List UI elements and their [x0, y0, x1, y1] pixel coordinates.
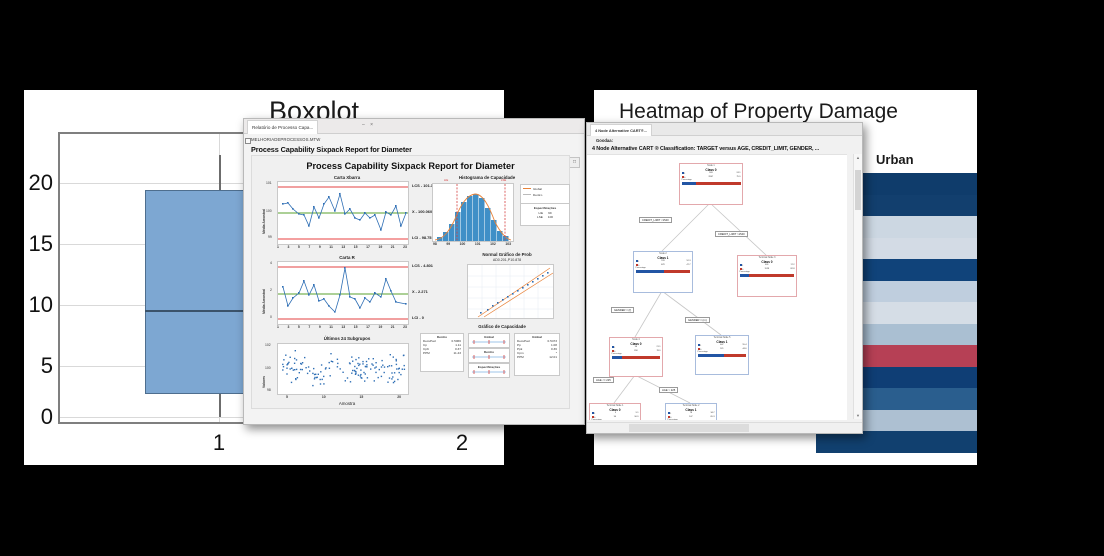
- boxplot-ytick-20: 20: [29, 170, 53, 196]
- histogram-lsl-mark: LIE: [444, 178, 448, 182]
- presentation-canvas: Boxplot 20 15 10 5 0 1 2 He: [0, 0, 1104, 556]
- xbar-plot-area: [277, 181, 409, 245]
- cart-node[interactable]: Terminal Node 3Class 0 140117.2 0192882.…: [737, 255, 797, 297]
- cart-split-label: AGE <= 225: [593, 377, 614, 383]
- cart-split-label: GENDER = {f}: [611, 307, 634, 313]
- subgroups-ytick-102: 102: [265, 343, 271, 347]
- subgroups-plot-area: [277, 343, 409, 395]
- sixpack-chart-title: Process Capability Sixpack Report for Di…: [252, 161, 569, 171]
- probplot-title: Normal Gráfico de Prob: [452, 252, 562, 257]
- cart-vertical-scrollbar[interactable]: ▲▼: [853, 154, 862, 419]
- histogram-spec-box: Especificações LIE99 LSE100: [520, 203, 570, 226]
- probplot-subtitle: AD0.201,P10.878: [452, 258, 562, 262]
- boxplot-ytick-10: 10: [29, 292, 53, 318]
- xbar-series: [278, 182, 408, 244]
- heatmap-cell: [816, 431, 989, 453]
- boxplot-ytick-15: 15: [29, 231, 53, 257]
- sixpack-canvas: Process Capability Sixpack Report for Di…: [251, 155, 570, 409]
- boxplot-upper-whisker: [219, 155, 221, 190]
- cart-node[interactable]: Terminal Node 5Class 1 164755.4 052144.6…: [695, 335, 749, 375]
- subgroups-ytick-98: 98: [267, 388, 271, 392]
- cart-split-label: CREDIT_LIMIT >1540: [715, 231, 748, 237]
- cart-split-label: GENDER = {m}: [685, 317, 710, 323]
- right-mask: [977, 55, 1104, 501]
- cart-node-bar-label: Percentage: [666, 419, 716, 420]
- cart-group-label: Goodaa:: [596, 138, 613, 143]
- capability-panel-espec: Especificações: [468, 363, 510, 378]
- minitab-window[interactable]: Relatório de Processo Capa... – × MELHOR…: [243, 118, 585, 425]
- xbar-ytick-101: 101: [266, 181, 272, 185]
- subgroups-xticks: 510 1520: [286, 395, 401, 399]
- subgroups-title: Últimos 24 Subgrupos: [282, 336, 412, 341]
- histogram-xticks: 9899 100101 102103: [433, 242, 511, 246]
- xbar-ytick-100: 100: [266, 209, 272, 213]
- cart-node-bar: [612, 356, 661, 360]
- xbar-ytick-99: 99: [268, 235, 272, 239]
- capability-panel-dentro: Dentro: [468, 348, 510, 363]
- rchart-ytick-4: 4: [270, 261, 272, 265]
- heatmap-title: Heatmap of Property Damage: [619, 100, 898, 124]
- subgroups-xlabel: Amostra: [282, 401, 412, 406]
- cart-header: 4 Node Alternative CART ® Classification…: [592, 146, 819, 152]
- histogram-bars: [433, 184, 513, 241]
- spec-box-title: Especificações: [523, 206, 567, 210]
- cart-node[interactable]: Terminal Node 1Class 0 199.1 09090.9Perc…: [589, 403, 641, 420]
- cart-split-label: AGE > 225: [659, 387, 678, 393]
- rchart-title: Carta R: [282, 255, 412, 260]
- cart-node[interactable]: Node 2Class 1 174352.3 067847.7Percentag…: [633, 251, 693, 293]
- legend-dentro: Dentro: [533, 193, 542, 197]
- worksheet-name: MELHORIADEPROCESSOS.MTW: [251, 137, 320, 142]
- boxplot-xtick-1: 1: [213, 430, 225, 456]
- minitab-tab-close-icon[interactable]: – ×: [362, 122, 375, 128]
- cart-node[interactable]: Node 4Class 0 19621.1 035878.9Percentage: [609, 337, 663, 377]
- cart-node-bar: [740, 274, 795, 278]
- subgroups-ylabel: Valores: [262, 376, 266, 388]
- xbar-title: Carta Xbarra: [282, 175, 412, 180]
- histogram-plot-area: [432, 183, 514, 242]
- cart-window[interactable]: 4 Node Alternative CART®... Goodaa: 4 No…: [586, 122, 863, 434]
- xbar-center-label: X - 100.060: [412, 209, 432, 214]
- cart-node-bar: [698, 354, 747, 358]
- histogram-legend: Global Dentro: [520, 184, 570, 205]
- rchart-center-label: X - 2.271: [412, 289, 428, 294]
- capability-overall-box: Global DesvPad0.5473 Pp1.08 Ppk0.36 Cpm*…: [514, 333, 560, 376]
- capability-title: Gráfico de Capacidade: [442, 324, 562, 329]
- minitab-tabbar: Relatório de Processo Capa... – ×: [244, 119, 584, 134]
- rchart-ucl-label: LCS - 4.801: [412, 263, 433, 268]
- rchart-plot-area: [277, 261, 409, 325]
- xbar-lcl-label: LCI - 98.751: [412, 235, 434, 240]
- collapse-icon[interactable]: □: [569, 157, 580, 168]
- rchart-ylabel: Média Amostral: [262, 289, 266, 314]
- histogram-usl-mark: LSE: [501, 178, 506, 182]
- cart-node-bar-label: Percentage: [590, 419, 640, 420]
- rchart-series: [278, 262, 408, 324]
- rchart-xticks: 13 57 911 1315 1719 2123: [277, 325, 407, 329]
- cart-tabbar: 4 Node Alternative CART®...: [587, 123, 862, 136]
- probplot-plot-area: [467, 264, 554, 319]
- minitab-panel-header: Process Capability Sixpack Report for Di…: [251, 145, 412, 154]
- cart-split-label: CREDIT_LIMIT <1540: [639, 217, 672, 223]
- boxplot-ytick-5: 5: [41, 353, 53, 379]
- capability-panel-global: Global: [468, 333, 510, 348]
- cart-tab[interactable]: 4 Node Alternative CART®...: [590, 124, 652, 136]
- capability-within-box: Dentro DesvPad0.5066 Cp1.11 CpK0.37 PPM1…: [420, 333, 464, 372]
- boxplot-xtick-2: 2: [456, 430, 468, 456]
- subgroups-points: [278, 344, 408, 394]
- rchart-ytick-0: 0: [270, 315, 272, 319]
- xbar-xticks: 13 57 911 1315 1719 2123: [277, 245, 407, 249]
- legend-global: Global: [533, 187, 542, 191]
- probplot-points: [468, 265, 553, 318]
- rchart-ytick-2: 2: [270, 288, 272, 292]
- boxplot-lower-whisker: [219, 392, 221, 417]
- rchart-lcl-label: LCI - 0: [412, 315, 424, 320]
- cart-node-bar: [682, 182, 741, 186]
- minitab-tab[interactable]: Relatório de Processo Capa...: [247, 120, 318, 134]
- cart-node-bar: [636, 270, 691, 274]
- cart-horizontal-scrollbar[interactable]: [587, 422, 862, 433]
- heatmap-column-header: Urban: [876, 152, 914, 167]
- boxplot-ytick-0: 0: [41, 404, 53, 430]
- cart-node[interactable]: Node 1Class 0 190324.1 0284775.9Percenta…: [679, 163, 743, 205]
- cart-node[interactable]: Terminal Node 2Class 1 17834.7 014765.3P…: [665, 403, 717, 420]
- subgroups-ytick-100: 100: [265, 366, 271, 370]
- cart-tree-canvas: Node 1Class 0 190324.1 0284775.9Percenta…: [587, 154, 847, 420]
